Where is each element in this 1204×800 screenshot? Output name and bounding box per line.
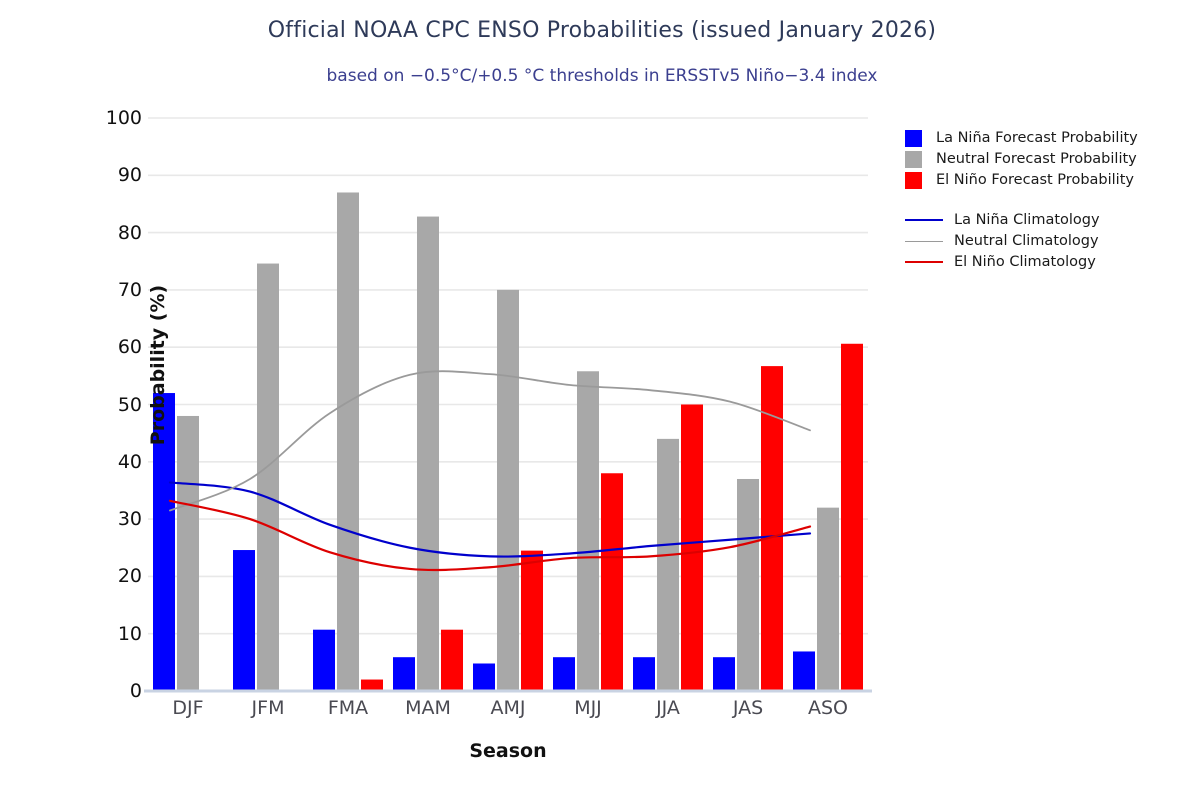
- y-tick-label: 80: [22, 224, 142, 243]
- bar: [473, 663, 495, 691]
- bar: [361, 680, 383, 691]
- legend-swatch-icon: [905, 172, 922, 189]
- bar-series-group: [153, 192, 863, 691]
- legend-label: Neutral Climatology: [954, 233, 1099, 249]
- y-tick-label: 100: [22, 109, 142, 128]
- legend-label: El Niño Climatology: [954, 254, 1096, 270]
- legend-item-line-0[interactable]: La Niña Climatology: [905, 210, 1195, 230]
- legend-swatch-icon: [905, 130, 922, 147]
- legend-item-bar-2[interactable]: El Niño Forecast Probability: [905, 170, 1195, 190]
- bar: [233, 550, 255, 691]
- y-tick-label: 60: [22, 338, 142, 357]
- y-tick-label: 30: [22, 510, 142, 529]
- y-tick-label: 90: [22, 166, 142, 185]
- legend-item-line-2[interactable]: El Niño Climatology: [905, 252, 1195, 272]
- bar: [793, 651, 815, 691]
- chart-title: Official NOAA CPC ENSO Probabilities (is…: [0, 18, 1204, 43]
- legend-item-line-1[interactable]: Neutral Climatology: [905, 231, 1195, 251]
- y-tick-label: 50: [22, 396, 142, 415]
- x-axis-label: Season: [148, 740, 868, 762]
- bar: [177, 416, 199, 691]
- y-tick-label: 10: [22, 625, 142, 644]
- y-tick-label: 0: [22, 682, 142, 701]
- legend-line-icon: [905, 219, 943, 221]
- legend-label: El Niño Forecast Probability: [936, 172, 1134, 188]
- legend-line-icon: [905, 261, 943, 263]
- chart-legend: La Niña Forecast ProbabilityNeutral Fore…: [905, 128, 1195, 273]
- bar: [257, 264, 279, 691]
- bar: [577, 371, 599, 691]
- x-tick-label-aso: ASO: [768, 699, 888, 718]
- y-axis-label: Probability (%): [147, 245, 169, 485]
- plot-canvas: [148, 118, 868, 691]
- enso-probability-chart: Official NOAA CPC ENSO Probabilities (is…: [0, 0, 1204, 800]
- y-tick-label: 20: [22, 567, 142, 586]
- legend-label: Neutral Forecast Probability: [936, 151, 1137, 167]
- bar: [553, 657, 575, 691]
- legend-label: La Niña Forecast Probability: [936, 130, 1138, 146]
- bar: [497, 290, 519, 691]
- legend-item-bar-0[interactable]: La Niña Forecast Probability: [905, 128, 1195, 148]
- bar: [817, 508, 839, 691]
- bar: [313, 630, 335, 691]
- legend-line-icon: [905, 241, 943, 242]
- legend-item-bar-1[interactable]: Neutral Forecast Probability: [905, 149, 1195, 169]
- bar: [521, 551, 543, 691]
- chart-subtitle: based on −0.5°C/+0.5 °C thresholds in ER…: [0, 66, 1204, 86]
- bar: [681, 405, 703, 692]
- bar: [737, 479, 759, 691]
- bar: [441, 630, 463, 691]
- bar: [657, 439, 679, 691]
- plot-area: 0102030405060708090100 DJFJFMFMAMAMAMJMJ…: [148, 118, 868, 691]
- bar: [713, 657, 735, 691]
- legend-label: La Niña Climatology: [954, 212, 1100, 228]
- legend-swatch-icon: [905, 151, 922, 168]
- bar: [417, 217, 439, 691]
- y-tick-label: 70: [22, 281, 142, 300]
- bar: [337, 192, 359, 691]
- bar: [841, 344, 863, 691]
- bar: [601, 473, 623, 691]
- bar: [393, 657, 415, 691]
- bar: [633, 657, 655, 691]
- y-tick-label: 40: [22, 453, 142, 472]
